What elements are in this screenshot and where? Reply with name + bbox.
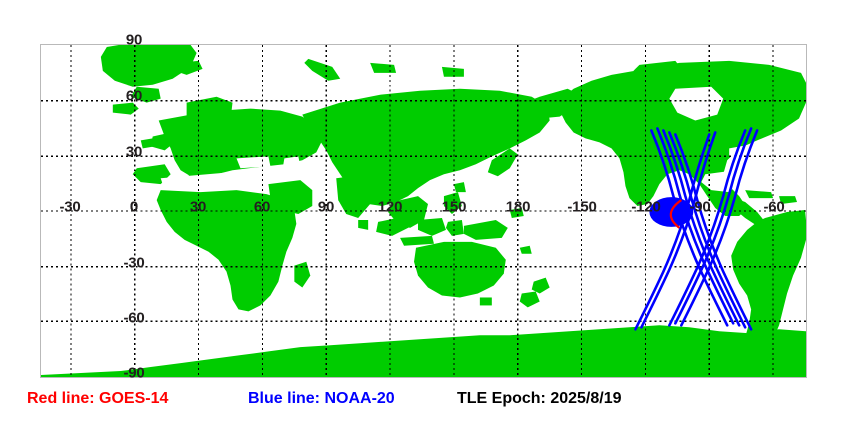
lat-tick--90: -90 [123,365,144,382]
lon-tick-30: 30 [190,199,206,216]
tasmania-shape [480,297,492,305]
africa-shape [157,190,297,311]
new-zealand-south-shape [520,292,540,308]
borneo-shape [418,218,446,236]
satellite-ground-track-figure: -30 0 30 60 90 120 150 180 -150 -120 -90… [0,0,850,425]
novaya-zemlya-shape [304,59,340,81]
indonesia-sumatra-shape [376,216,412,236]
antarctica-shape [41,325,806,377]
lat-tick-0: 0 [130,199,138,216]
lat-tick--30: -30 [123,255,144,272]
lon-tick--30: -30 [59,199,80,216]
black-sea-cutout-shape [236,156,270,168]
taiwan-shape [454,182,466,192]
sulawesi-shape [446,220,464,236]
lon-tick--150: -150 [567,199,596,216]
new-guinea-shape [464,220,508,240]
new-zealand-north-shape [532,278,550,294]
legend-entry-goes14: Red line: GOES-14 [27,390,168,408]
lat-tick-90: 90 [126,32,142,49]
lon-tick-180: 180 [506,199,530,216]
madagascar-shape [294,262,310,288]
lat-tick--60: -60 [123,310,144,327]
lat-tick-30: 30 [126,144,142,161]
australia-shape [414,242,506,298]
sri-lanka-shape [358,220,368,230]
legend-entry-noaa20: Blue line: NOAA-20 [248,390,395,408]
lon-tick--120: -120 [631,199,660,216]
cuba-shape [745,190,773,198]
severnaya-zemlya-shape [370,63,396,73]
lon-tick-90: 90 [318,199,334,216]
lon-tick--60: -60 [763,199,784,216]
indonesia-java-shape [400,236,434,246]
new-siberian-islands-shape [442,67,464,77]
lon-tick-60: 60 [254,199,270,216]
lon-tick-120: 120 [378,199,402,216]
legend-entry-tle-epoch: TLE Epoch: 2025/8/19 [457,390,622,408]
fiji-islands-shape [520,246,532,254]
lon-tick--90: -90 [689,199,710,216]
lon-tick-150: 150 [442,199,466,216]
lat-tick-60: 60 [126,88,142,105]
legend-bar: Red line: GOES-14 Blue line: NOAA-20 TLE… [0,390,850,420]
